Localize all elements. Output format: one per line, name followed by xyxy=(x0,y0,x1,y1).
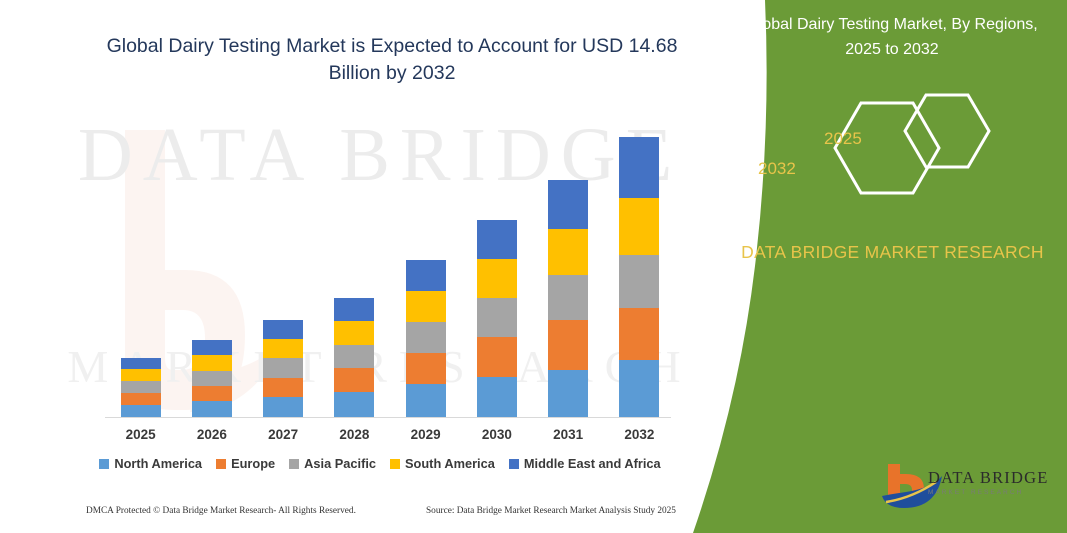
bar-segment xyxy=(406,353,446,384)
x-axis-label-2027: 2027 xyxy=(248,427,318,442)
bar-segment xyxy=(192,401,232,417)
bar-segment xyxy=(548,320,588,370)
hexagon-2025-shape xyxy=(905,95,989,167)
legend-swatch-icon xyxy=(216,459,226,469)
company-logo: DATA BRIDGE MARKET RESEARCH xyxy=(876,462,1054,514)
logo-subtitle: MARKET RESEARCH xyxy=(928,489,1023,496)
chart-title: Global Dairy Testing Market is Expected … xyxy=(92,33,692,87)
legend-swatch-icon xyxy=(99,459,109,469)
bar-segment xyxy=(192,355,232,371)
bar-segment xyxy=(406,291,446,322)
bar-segment xyxy=(263,358,303,378)
logo-title: DATA BRIDGE xyxy=(928,468,1049,488)
chart-panel: DATA BRIDGE MARKET RESEARCH Global Dairy… xyxy=(0,0,760,533)
bar-segment xyxy=(477,220,517,259)
bar-segment xyxy=(619,360,659,417)
bar-segment xyxy=(121,358,161,369)
bar-segment xyxy=(121,393,161,405)
bar-group-2026 xyxy=(192,340,232,417)
bar-segment xyxy=(477,259,517,298)
legend-item[interactable]: South America xyxy=(390,456,495,471)
bar-segment xyxy=(334,345,374,368)
x-axis-label-2026: 2026 xyxy=(177,427,247,442)
bar-segment xyxy=(334,368,374,392)
legend-swatch-icon xyxy=(390,459,400,469)
bar-segment xyxy=(263,320,303,339)
branding-heading: Global Dairy Testing Market, By Regions,… xyxy=(727,12,1057,62)
bar-group-2029 xyxy=(406,260,446,417)
footer: DMCA Protected © Data Bridge Market Rese… xyxy=(0,506,760,528)
footer-source: Source: Data Bridge Market Research Mark… xyxy=(426,506,676,516)
x-axis-label-2032: 2032 xyxy=(604,427,674,442)
bar-segment xyxy=(548,275,588,320)
bar-segment xyxy=(263,378,303,397)
bar-segment xyxy=(477,377,517,417)
bar-chart-plot xyxy=(105,120,675,417)
bar-segment xyxy=(406,384,446,417)
bar-segment xyxy=(548,370,588,417)
bar-group-2032 xyxy=(619,137,659,417)
x-axis-label-2030: 2030 xyxy=(462,427,532,442)
legend-label: Middle East and Africa xyxy=(524,456,661,471)
bar-segment xyxy=(334,298,374,321)
bar-segment xyxy=(477,337,517,377)
legend-swatch-icon xyxy=(289,459,299,469)
bar-segment xyxy=(263,339,303,358)
bar-segment xyxy=(619,255,659,308)
branding-panel: Global Dairy Testing Market, By Regions,… xyxy=(693,0,1067,533)
bar-segment xyxy=(548,229,588,275)
bar-segment xyxy=(406,322,446,353)
bar-segment xyxy=(192,386,232,401)
bar-group-2025 xyxy=(121,358,161,417)
x-axis-label-2025: 2025 xyxy=(106,427,176,442)
bar-segment xyxy=(619,137,659,198)
footer-copyright: DMCA Protected © Data Bridge Market Rese… xyxy=(86,506,356,516)
bar-segment xyxy=(477,298,517,337)
legend-item[interactable]: Middle East and Africa xyxy=(509,456,661,471)
legend-item[interactable]: Europe xyxy=(216,456,275,471)
bar-segment xyxy=(121,369,161,381)
bar-segment xyxy=(619,198,659,255)
bar-segment xyxy=(619,308,659,360)
x-axis-label-2029: 2029 xyxy=(391,427,461,442)
bar-segment xyxy=(334,321,374,345)
bar-segment xyxy=(192,371,232,386)
bar-segment xyxy=(192,340,232,355)
green-panel-shape xyxy=(693,0,1067,533)
x-axis-line xyxy=(105,417,671,418)
bar-group-2030 xyxy=(477,220,517,417)
legend-swatch-icon xyxy=(509,459,519,469)
legend-label: North America xyxy=(114,456,202,471)
legend-item[interactable]: Asia Pacific xyxy=(289,456,376,471)
brand-name: DATA BRIDGE MARKET RESEARCH xyxy=(730,239,1055,266)
x-axis-labels: 20252026202720282029203020312032 xyxy=(105,427,675,447)
hexagon-label-2032: 2032 xyxy=(758,159,796,179)
legend-label: Europe xyxy=(231,456,275,471)
bar-group-2031 xyxy=(548,180,588,417)
bar-segment xyxy=(548,180,588,229)
legend-label: Asia Pacific xyxy=(304,456,376,471)
bar-segment xyxy=(121,405,161,417)
chart-legend: North AmericaEuropeAsia PacificSouth Ame… xyxy=(0,456,760,471)
legend-label: South America xyxy=(405,456,495,471)
x-axis-label-2028: 2028 xyxy=(319,427,389,442)
legend-item[interactable]: North America xyxy=(99,456,202,471)
bar-group-2028 xyxy=(334,298,374,417)
bar-segment xyxy=(406,260,446,291)
bar-segment xyxy=(263,397,303,417)
x-axis-label-2031: 2031 xyxy=(533,427,603,442)
bar-segment xyxy=(334,392,374,417)
infographic-root: DATA BRIDGE MARKET RESEARCH Global Dairy… xyxy=(0,0,1067,533)
bar-group-2027 xyxy=(263,320,303,417)
hexagon-label-2025: 2025 xyxy=(824,129,862,149)
bar-segment xyxy=(121,381,161,393)
